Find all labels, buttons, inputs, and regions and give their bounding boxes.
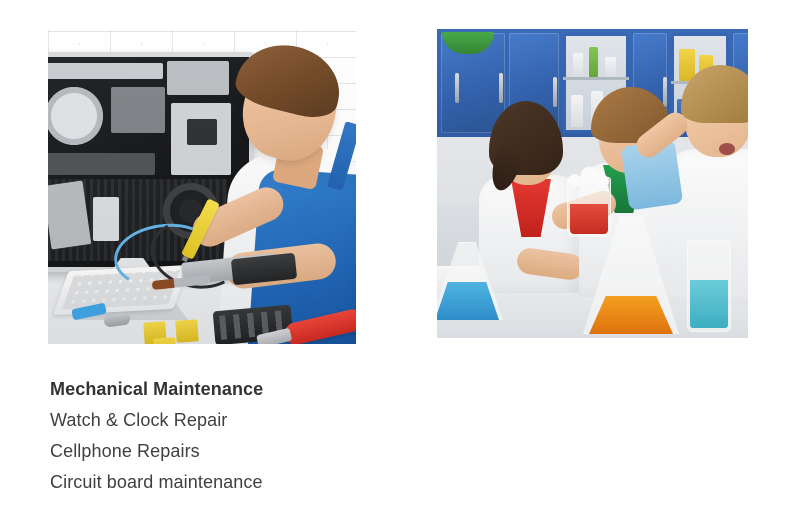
lab-bottle [589, 47, 598, 77]
imac-internal-chip [187, 119, 217, 145]
imac-internal-part [93, 197, 119, 241]
feature-column-mechanical: Mechanical Maintenance Watch & Clock Rep… [0, 0, 400, 509]
lab-bottle [573, 53, 583, 77]
cyan-liquid [690, 280, 728, 328]
yellow-clip-tool [153, 337, 176, 344]
imac-internal-part [48, 153, 155, 175]
caption-line-item: Circuit board maintenance [50, 467, 380, 498]
cabinet-handle[interactable] [499, 73, 503, 103]
orange-liquid-flask [583, 216, 679, 334]
imac-internal-part [111, 87, 165, 133]
imac-internal-part [48, 63, 163, 79]
yellow-clip-tool [175, 319, 198, 342]
girl-hair [489, 101, 563, 175]
froth-bubbles [565, 165, 613, 191]
lab-bottle [605, 57, 616, 77]
technician-repairing-imac-photo [48, 30, 356, 344]
imac-internal-part [167, 61, 229, 95]
blue-liquid-flask [437, 242, 503, 320]
open-mouth [719, 143, 735, 155]
caption-list-mechanical: Mechanical Maintenance Watch & Clock Rep… [50, 374, 380, 498]
imac-hard-drive [48, 87, 103, 145]
caption-line-item: Cellphone Repairs [50, 436, 380, 467]
children-science-lab-photo [437, 29, 748, 338]
caption-line-title: Mechanical Maintenance [50, 374, 380, 405]
cabinet-shelf [563, 77, 629, 80]
cyan-liquid-cylinder [687, 240, 731, 332]
boy-hair [681, 65, 748, 123]
cabinet-handle[interactable] [455, 73, 459, 103]
product-feature-page: Mechanical Maintenance Watch & Clock Rep… [0, 0, 800, 509]
feature-column-teaching: Teaching Tools Experimental examination … [400, 0, 800, 509]
caption-line-item: Watch & Clock Repair [50, 405, 380, 436]
